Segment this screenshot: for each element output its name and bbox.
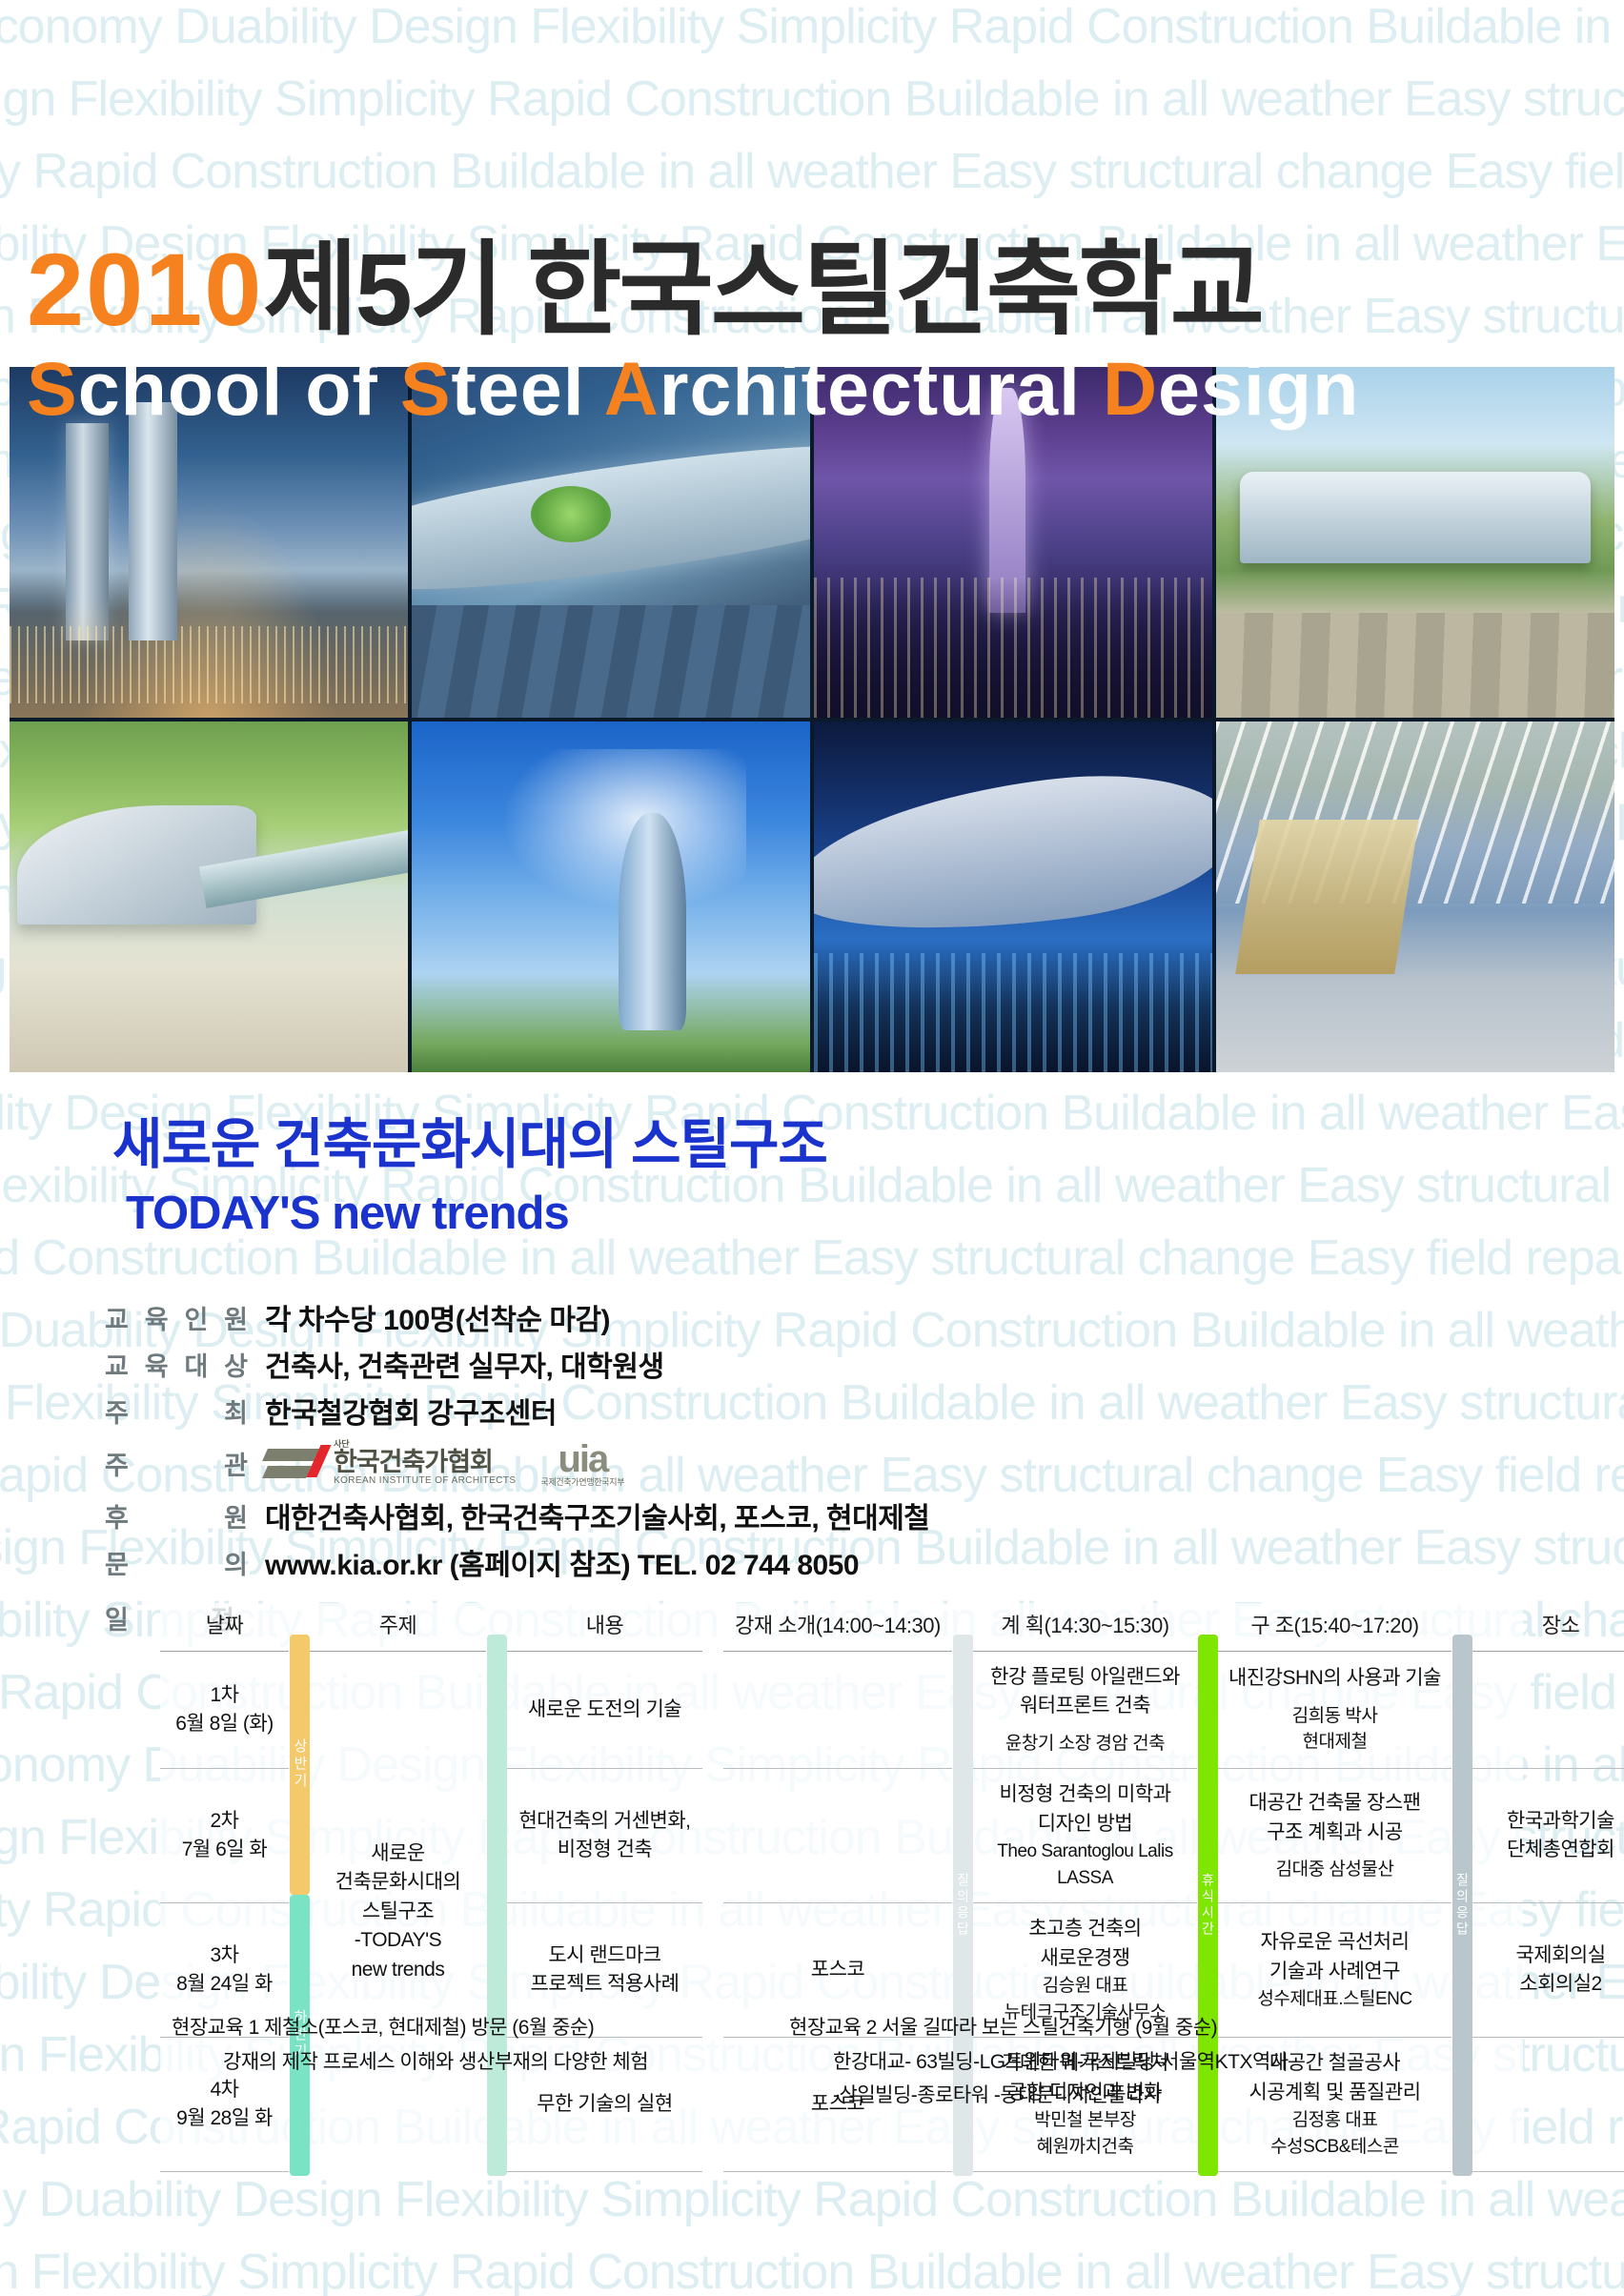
footnote-left-line-1: 강재의 제작 프로세스 이해와 생산부재의 다양한 체험 bbox=[172, 2045, 648, 2080]
cell-structure: 내진강SHN의 사용과 기술김희동 박사현대제철 bbox=[1218, 1652, 1451, 1769]
kia-logo: 사단 한국건축가협회 KOREAN INSTITUTE OF ARCHITECT… bbox=[265, 1440, 516, 1486]
cell-line: 구조 계획과 시공 bbox=[1222, 1819, 1448, 1847]
cell-line: 김대중 삼성물산 bbox=[1222, 1857, 1448, 1883]
info-label-contact: 문 의 bbox=[105, 1544, 248, 1581]
label-char: 인 bbox=[184, 1299, 208, 1336]
vertical-bar-slot bbox=[702, 2038, 723, 2172]
kia-name-ko: 한국건축가협회 bbox=[334, 1449, 516, 1475]
cell-venue bbox=[1472, 2038, 1624, 2172]
table-row: 1차6월 8일 (화)새로운건축문화시대의스틸구조-TODAY'Snew tre… bbox=[160, 1652, 1624, 1769]
cell-line: 내진강SHN의 사용과 기술 bbox=[1222, 1664, 1448, 1693]
cell-line: 소회의실2 bbox=[1476, 1970, 1624, 1999]
poster-title-block: 2010제5기 한국스틸건축학교 School of Steel Archite… bbox=[0, 238, 1624, 426]
info-row-contact: 문 의 www.kia.or.kr (홈페이지 참조) TEL. 02 744 … bbox=[0, 1541, 1624, 1583]
label-char: 후 bbox=[105, 1497, 129, 1534]
cell-line: 7월 6일 화 bbox=[164, 1836, 285, 1864]
title-year: 2010 bbox=[27, 232, 263, 347]
vertical-bar-slot bbox=[289, 1652, 310, 1769]
col-spacer-3 bbox=[702, 1603, 723, 1652]
vertical-bar-slot bbox=[1451, 1903, 1472, 2038]
cell-line: Theo Sarantoglou Lalis LASSA bbox=[977, 1839, 1193, 1891]
cell-line: 새로운경쟁 bbox=[977, 1944, 1193, 1973]
footnote-left-title: 현장교육 1 제철소(포스코, 현대제철) 방문 (6월 중순) bbox=[172, 2011, 648, 2045]
photo-curved-blue-interior bbox=[814, 721, 1212, 1072]
col-steel-intro: 강재 소개(14:00~14:30) bbox=[723, 1603, 952, 1652]
col-date: 날짜 bbox=[160, 1603, 289, 1652]
title-en-w1: chool of bbox=[78, 346, 400, 431]
cell-line: 2차 bbox=[164, 1807, 285, 1836]
vertical-bar-slot bbox=[1451, 1652, 1472, 1769]
cell-theme: 새로운건축문화시대의스틸구조-TODAY'Snew trends bbox=[310, 1652, 486, 2172]
cell-line: 1차 bbox=[164, 1681, 285, 1710]
cell-line: 현대제철 bbox=[1222, 1729, 1448, 1756]
cell-line: 4차 bbox=[164, 2076, 285, 2104]
uia-caption: 국제건축가연맹한국지부 bbox=[540, 1478, 624, 1487]
vertical-bar-slot bbox=[702, 1769, 723, 1903]
cell-date: 2차7월 6일 화 bbox=[160, 1769, 289, 1903]
uia-logo: uia 국제건축가연맹한국지부 bbox=[540, 1440, 624, 1487]
cell-line: 3차 bbox=[164, 1941, 285, 1970]
headline-english: TODAY'S new trends bbox=[0, 1189, 1624, 1240]
info-block: 교 육 인 원 각 차수당 100명(선착순 마감) 교 육 대 상 건축사, … bbox=[0, 1296, 1624, 1641]
info-row-capacity: 교 육 인 원 각 차수당 100명(선착순 마감) bbox=[0, 1296, 1624, 1338]
info-value-host: 한국철강협회 강구조센터 bbox=[265, 1390, 557, 1432]
label-char: 육 bbox=[145, 1346, 169, 1383]
watermark-line: Economy Duability Design Flexibility Sim… bbox=[0, 0, 1624, 63]
cell-line bbox=[1222, 1847, 1448, 1857]
info-value-sponsor: 대한건축사협회, 한국건축구조기술사회, 포스코, 현대제철 bbox=[265, 1494, 929, 1536]
organizer-logos: 사단 한국건축가협회 KOREAN INSTITUTE OF ARCHITECT… bbox=[265, 1440, 624, 1487]
info-label-audience: 교 육 대 상 bbox=[105, 1346, 248, 1383]
label-char: 의 bbox=[224, 1544, 248, 1581]
theme-line: -TODAY'S bbox=[314, 1926, 482, 1955]
vertical-bar-slot bbox=[486, 1652, 507, 1769]
cell-line: 기술과 사례연구 bbox=[1222, 1958, 1448, 1986]
col-spacer-5 bbox=[1451, 1603, 1472, 1652]
cell-line: 자유로운 곡선처리 bbox=[1222, 1928, 1448, 1957]
footnote-right: 현장교육 2 서울 길따라 보는 스틸건축기행 (9월 중순) 한강대교- 63… bbox=[789, 2011, 1289, 2113]
vertical-bar-slot bbox=[952, 1652, 973, 1769]
info-value-audience: 건축사, 건축관련 실무자, 대학원생 bbox=[265, 1343, 664, 1385]
theme-line: new trends bbox=[314, 1956, 482, 1984]
label-char: 주 bbox=[105, 1392, 129, 1430]
title-korean: 제5기 한국스틸건축학교 bbox=[263, 232, 1262, 347]
photo-railway-station bbox=[10, 721, 408, 1072]
vertical-bar-slot bbox=[289, 1769, 310, 1903]
title-english: School of Steel Architectural Design bbox=[0, 351, 1624, 426]
col-structure: 구 조(15:40~17:20) bbox=[1218, 1603, 1451, 1652]
vertical-bar-slot bbox=[1197, 1652, 1218, 1769]
title-en-w2: teel bbox=[452, 346, 604, 431]
info-row-sponsor: 후 원 대한건축사협회, 한국건축구조기술사회, 포스코, 현대제철 bbox=[0, 1494, 1624, 1536]
watermark-line: my Duability Design Flexibility Simplici… bbox=[0, 2164, 1624, 2236]
cell-line: 워터프론트 건축 bbox=[977, 1692, 1193, 1720]
info-row-organizer: 주 관 사단 한국건축가협회 KOREAN INSTITUTE OF ARCHI… bbox=[0, 1436, 1624, 1490]
info-label-organizer: 주 관 bbox=[105, 1445, 248, 1482]
footnote-right-line-2: -삼일빌딩-종로타워 -동대문디자인플라자 bbox=[789, 2079, 1289, 2113]
title-en-w3: rchitectural bbox=[660, 346, 1103, 431]
label-char: 교 bbox=[105, 1299, 129, 1336]
col-spacer-1 bbox=[289, 1603, 310, 1652]
title-en-s2: S bbox=[400, 346, 452, 431]
label-char: 관 bbox=[224, 1445, 248, 1482]
vertical-bar-slot bbox=[952, 1769, 973, 1903]
label-char: 일 bbox=[105, 1599, 142, 1636]
col-content: 내용 bbox=[507, 1603, 702, 1652]
label-char: 교 bbox=[105, 1346, 129, 1383]
vertical-bar-slot bbox=[702, 1652, 723, 1769]
title-en-a: A bbox=[604, 346, 660, 431]
theme-line: 스틸구조 bbox=[314, 1898, 482, 1926]
kia-mark-icon bbox=[265, 1443, 326, 1483]
kia-name-en: KOREAN INSTITUTE OF ARCHITECTS bbox=[334, 1476, 516, 1487]
cell-venue bbox=[1472, 1652, 1624, 1769]
footnote-left: 현장교육 1 제철소(포스코, 현대제철) 방문 (6월 중순) 강재의 제작 … bbox=[172, 2011, 648, 2079]
cell-line: 9월 28일 화 bbox=[164, 2104, 285, 2133]
cell-date: 1차6월 8일 (화) bbox=[160, 1652, 289, 1769]
watermark-line: bility Simplicity Rapid Construction Bui… bbox=[0, 135, 1624, 208]
cell-line: 한강 플로팅 아일랜드와 bbox=[977, 1663, 1193, 1692]
info-label-capacity: 교 육 인 원 bbox=[105, 1299, 248, 1336]
cell-line: 혜원까치건축 bbox=[977, 2134, 1193, 2161]
cell-line: 포스코 bbox=[727, 1956, 948, 1984]
headline-korean: 새로운 건축문화시대의 스틸구조 bbox=[0, 1115, 1624, 1175]
cell-line: 디자인 방법 bbox=[977, 1810, 1193, 1839]
cell-plan: 비정형 건축의 미학과디자인 방법Theo Sarantoglou Lalis … bbox=[973, 1769, 1197, 1903]
page-title: 2010제5기 한국스틸건축학교 bbox=[0, 238, 1624, 341]
cell-line: 한국과학기술 bbox=[1476, 1807, 1624, 1836]
info-value-contact[interactable]: www.kia.or.kr (홈페이지 참조) TEL. 02 744 8050 bbox=[265, 1541, 859, 1583]
cell-line: 프로젝트 적용사례 bbox=[511, 1970, 699, 1999]
photo-sky-tower bbox=[412, 721, 810, 1072]
label-char: 원 bbox=[224, 1299, 248, 1336]
cell-line bbox=[977, 1721, 1193, 1731]
info-value-capacity: 각 차수당 100명(선착순 마감) bbox=[265, 1296, 610, 1338]
cell-plan: 한강 플로팅 아일랜드와워터프론트 건축윤창기 소장 경암 건축 bbox=[973, 1652, 1197, 1769]
cell-line: 수성SCB&테스콘 bbox=[1222, 2134, 1448, 2161]
vertical-bar-slot bbox=[1197, 1769, 1218, 1903]
cell-steel-intro bbox=[723, 1769, 952, 1903]
cell-line: 대공간 건축물 장스팬 bbox=[1222, 1789, 1448, 1818]
info-label-host: 주 최 bbox=[105, 1392, 248, 1430]
cell-line bbox=[1222, 1694, 1448, 1703]
cell-content: 현대건축의 거센변화,비정형 건축 bbox=[507, 1769, 702, 1903]
cell-line: 김희동 박사 bbox=[1222, 1703, 1448, 1730]
cell-line: 윤창기 소장 경암 건축 bbox=[977, 1731, 1193, 1758]
kia-logo-text: 사단 한국건축가협회 KOREAN INSTITUTE OF ARCHITECT… bbox=[334, 1440, 516, 1486]
cell-line: 초고층 건축의 bbox=[977, 1915, 1193, 1943]
title-en-w4: esign bbox=[1158, 346, 1359, 431]
info-label-sponsor: 후 원 bbox=[105, 1497, 248, 1534]
label-char: 육 bbox=[145, 1299, 169, 1336]
cell-line: 김승원 대표 bbox=[977, 1973, 1193, 2000]
label-char: 주 bbox=[105, 1445, 129, 1482]
col-plan: 계 획(14:30~15:30) bbox=[973, 1603, 1197, 1652]
col-spacer-6 bbox=[1197, 1603, 1218, 1652]
cell-line: 단체총연합회 bbox=[1476, 1836, 1624, 1864]
info-row-audience: 교 육 대 상 건축사, 건축관련 실무자, 대학원생 bbox=[0, 1343, 1624, 1385]
title-en-s1: S bbox=[27, 346, 78, 431]
info-row-host: 주 최 한국철강협회 강구조센터 bbox=[0, 1390, 1624, 1432]
label-char: 문 bbox=[105, 1544, 129, 1581]
vertical-bar-slot bbox=[1451, 1769, 1472, 1903]
poster-root: Economy Duability Design Flexibility Sim… bbox=[0, 0, 1624, 2296]
cell-venue: 국제회의실소회의실2 bbox=[1472, 1903, 1624, 2038]
cell-line: 무한 기술의 실현 bbox=[511, 2090, 699, 2119]
vertical-bar-slot bbox=[702, 1903, 723, 2038]
label-char: 대 bbox=[184, 1346, 208, 1383]
label-char: 원 bbox=[224, 1497, 248, 1534]
vertical-bar-slot bbox=[486, 1769, 507, 1903]
photo-grid bbox=[10, 367, 1614, 1072]
cell-content: 새로운 도전의 기술 bbox=[507, 1652, 702, 1769]
cell-structure: 대공간 건축물 장스팬구조 계획과 시공김대중 삼성물산 bbox=[1218, 1769, 1451, 1903]
theme-line: 새로운 bbox=[314, 1839, 482, 1868]
cell-line: 현대건축의 거센변화, bbox=[511, 1807, 699, 1836]
cell-line: 성수제대표.스틸ENC bbox=[1222, 1986, 1448, 2013]
cell-line: 도시 랜드마크 bbox=[511, 1941, 699, 1970]
cell-line: 8월 24일 화 bbox=[164, 1970, 285, 1999]
schedule-header-row: 날짜 주제 내용 강재 소개(14:00~14:30) 계 획(14:30~15… bbox=[160, 1603, 1624, 1652]
cell-line: 비정형 건축의 미학과 bbox=[977, 1780, 1193, 1809]
watermark-line: esign Flexibility Simplicity Rapid Const… bbox=[0, 2236, 1624, 2296]
cell-line: 새로운 도전의 기술 bbox=[511, 1696, 699, 1724]
watermark-line: ity Design Flexibility Simplicity Rapid … bbox=[0, 63, 1624, 135]
footnote-right-title: 현장교육 2 서울 길따라 보는 스틸건축기행 (9월 중순) bbox=[789, 2011, 1289, 2045]
photo-glass-atrium bbox=[1216, 721, 1614, 1072]
uia-mark-icon: uia bbox=[540, 1440, 624, 1478]
cell-venue: 한국과학기술단체총연합회 bbox=[1472, 1769, 1624, 1903]
cell-line: 국제회의실 bbox=[1476, 1941, 1624, 1970]
vertical-bar-slot bbox=[1451, 2038, 1472, 2172]
cell-line: 6월 8일 (화) bbox=[164, 1710, 285, 1738]
headline-block: 새로운 건축문화시대의 스틸구조 TODAY'S new trends bbox=[0, 1115, 1624, 1240]
theme-line: 건축문화시대의 bbox=[314, 1868, 482, 1897]
cell-steel-intro bbox=[723, 1652, 952, 1769]
title-en-d: D bbox=[1103, 346, 1158, 431]
col-venue: 장소 bbox=[1472, 1603, 1624, 1652]
col-spacer-4 bbox=[952, 1603, 973, 1652]
label-char: 최 bbox=[224, 1392, 248, 1430]
col-spacer-2 bbox=[486, 1603, 507, 1652]
footnote-right-line-1: 한강대교- 63빌딩-LG트윈타워-국제빌딩-서울역KTX역사 bbox=[789, 2045, 1289, 2080]
label-char: 상 bbox=[224, 1346, 248, 1383]
col-theme: 주제 bbox=[310, 1603, 486, 1652]
cell-line: 비정형 건축 bbox=[511, 1836, 699, 1864]
